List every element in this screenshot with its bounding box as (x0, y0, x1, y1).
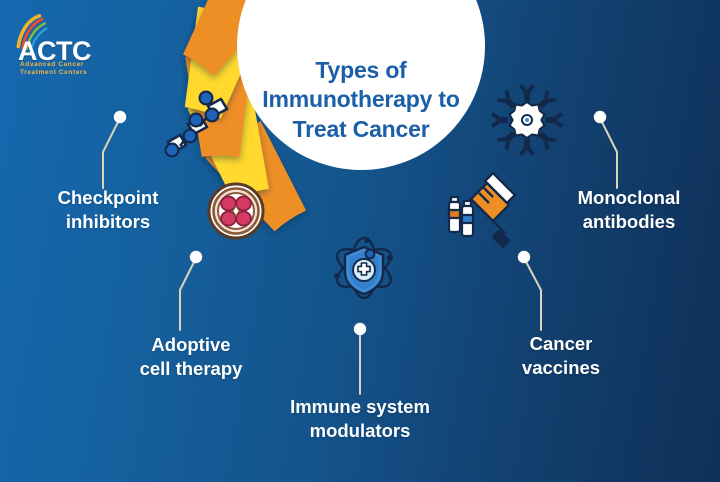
dot-monoclonal (594, 111, 606, 123)
connector-monoclonal (600, 118, 617, 188)
label-cancer-vaccines[interactable]: Cancer vaccines (475, 332, 647, 381)
title-line-2: Immunotherapy to (249, 85, 474, 114)
infographic-canvas: ACTC Advanced Cancer Treatment Centers (0, 0, 720, 482)
label-checkpoint-inhibitors[interactable]: Checkpoint inhibitors (22, 186, 194, 235)
dot-vaccines (518, 251, 530, 263)
shield-atom-icon (332, 237, 397, 298)
label-monoclonal-antibodies[interactable]: Monoclonal antibodies (540, 186, 718, 235)
title-line-1: Types of (249, 56, 474, 85)
dot-modulators (354, 323, 366, 335)
antibody-virus-icon (491, 84, 563, 156)
connector-checkpoint (103, 118, 120, 188)
title-line-3: Treat Cancer (249, 115, 474, 144)
page-title: Types of Immunotherapy to Treat Cancer (249, 56, 474, 144)
label-adoptive-cell-therapy[interactable]: Adoptive cell therapy (105, 333, 277, 382)
syringe-vials-icon (449, 173, 515, 247)
cell-with-nuclei-icon (209, 184, 263, 238)
connector-adoptive (180, 258, 196, 330)
connector-vaccines (524, 258, 541, 330)
dot-adoptive (190, 251, 202, 263)
dot-checkpoint (114, 111, 126, 123)
label-immune-system-modulators[interactable]: Immune system modulators (254, 395, 466, 444)
